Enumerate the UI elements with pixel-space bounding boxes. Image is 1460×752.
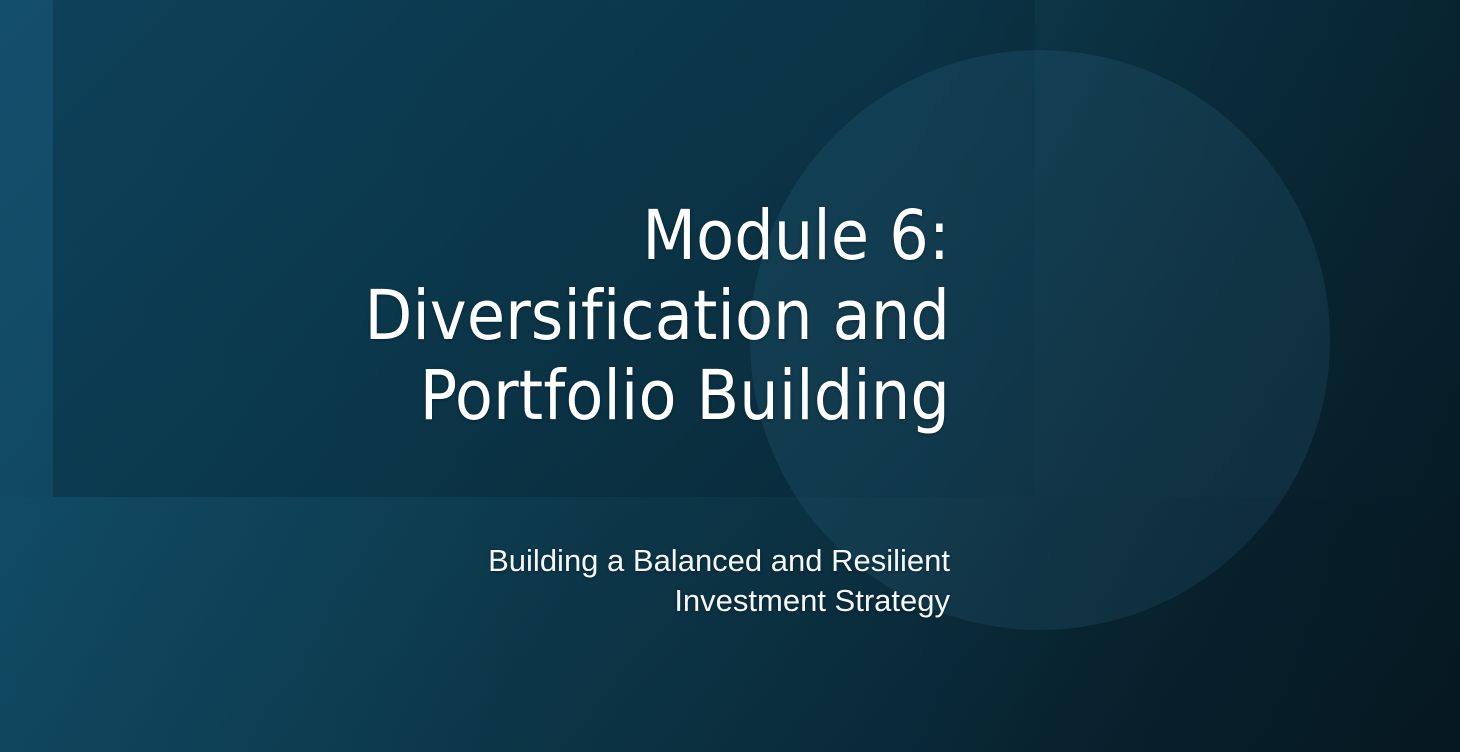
page-title: Module 6: Diversification and Portfolio … xyxy=(220,196,950,436)
panel-overlay-shape xyxy=(53,0,1035,497)
lower-band-shape xyxy=(0,497,1460,752)
page-subtitle: Building a Balanced and Resilient Invest… xyxy=(220,541,950,621)
decorative-circle-shape xyxy=(750,50,1330,630)
title-text-block: Module 6: Diversification and Portfolio … xyxy=(220,196,950,436)
title-slide: Module 6: Diversification and Portfolio … xyxy=(0,0,1460,752)
background-vignette xyxy=(0,0,1460,752)
left-accent-strip xyxy=(0,0,53,497)
